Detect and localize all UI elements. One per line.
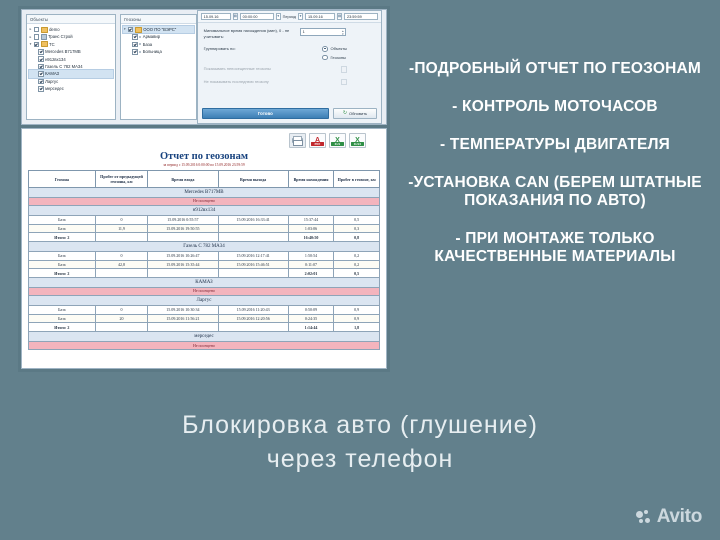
group-name: Ларгус [29,296,380,306]
tree-item[interactable]: Больница [123,48,193,55]
xls-label: XLS [331,142,344,146]
col-enter: Время входа [148,171,218,188]
checkbox[interactable] [38,71,44,77]
cell-enter: 15.09.2016 10:26:47 [148,251,218,260]
table-row: База 0 15.09.2016 10:26:47 15.09.2016 12… [29,251,380,260]
report-subtitle: за период с 15.09.2016 0:00:00 по 15.09.… [28,163,380,167]
cell-mileage-in: 0,9 [334,314,380,323]
tracking-app-window: Объекты ▸ demo ▸ Транс Строй [21,9,387,125]
period-chevron-icon[interactable]: ▾ [298,13,303,19]
group-name: н912вх134 [29,206,380,216]
total-mileage: 0,8 [334,233,380,242]
zone-icon [139,51,141,53]
expander-icon[interactable]: ▸ [29,36,32,39]
objects-panel-header: Объекты [27,15,115,24]
expander-icon[interactable]: ▾ [29,43,32,46]
folder-icon [41,41,48,47]
cell-exit [218,224,288,233]
avito-watermark: Avito [636,506,702,528]
total-duration: 16:40:50 [288,233,334,242]
tree-item-label: Транс Строй [48,33,73,40]
group-by-label: Группировать по: [204,46,300,52]
checkbox[interactable] [38,64,44,70]
hide-last-checkbox [341,79,348,86]
marketing-bullets: -Подробный отчет по геозонам - Контроль … [400,60,710,266]
total-mileage: 1,8 [334,323,380,332]
radio-dot[interactable] [322,55,328,61]
no-visit-text: Не посещено [29,341,380,350]
avito-logo-icon [636,510,653,525]
geozones-panel-header: Геозоны [121,15,195,24]
cell-zone: База [29,215,96,224]
calendar-to-icon[interactable]: ▤ [337,13,342,19]
caption-line-2: через телефон [60,442,660,476]
col-mileage-prev: Пробег от предыдущей геозоны, км [95,171,148,188]
tree-item[interactable]: База [123,41,193,48]
no-visit-text: Не посещено [29,287,380,296]
checkbox[interactable] [132,42,138,48]
report-title: Отчет по геозонам [28,151,380,162]
expander-icon[interactable]: ▸ [29,28,32,31]
tree-item[interactable]: Газель С 782 МА34 [29,63,113,70]
no-visit-row: Не посещено [29,287,380,296]
group-name: мерседес [29,332,380,342]
total-mileage: 0,5 [334,269,380,278]
min-time-value: 1 [303,29,305,34]
tree-item[interactable]: ▸ Транс Строй [29,33,113,40]
parameters-body: Минимальное время нахождения (мин), 0 - … [198,23,381,96]
cell-mileage-prev: 0 [95,215,148,224]
total-label: Итого: 2 [29,233,96,242]
tree-item-label: Mercedes B717MB [45,48,81,55]
zone-icon [139,43,141,45]
pdf-icon[interactable]: A PDF [309,133,326,148]
date-to-input[interactable]: 15.09.16 [305,13,335,20]
cell-mileage-in: 0,5 [334,215,380,224]
tree-item-label: demo [49,26,59,33]
group-name: Mercedes B717MB [29,188,380,198]
tree-item-label: ООО ПО "ВЭРС" [143,26,176,33]
bottom-caption: Блокировка авто (глушение) через телефон [60,408,660,476]
bullet-5: - При монтаже только качественные матери… [400,230,710,266]
checkbox[interactable] [38,86,44,92]
checkbox[interactable] [38,56,44,62]
group-row: н912вх134 [29,206,380,216]
export-toolbar: A PDF X XLS X XLSX [28,133,380,148]
cell-enter: 15.09.2016 19:50:55 [148,224,218,233]
truck-icon [41,34,47,40]
tree-item[interactable]: Ларгус [29,78,113,85]
cell-mileage-prev: 11,9 [95,224,148,233]
tree-item-label: Больница [143,48,162,55]
print-icon[interactable] [289,133,306,148]
cell-exit: 15.09.2016 11:20:43 [218,305,288,314]
show-unvisited-row: Показывать непосещенные геозоны [204,66,375,73]
xlsx-icon[interactable]: X XLSX [349,133,366,148]
objects-panel: Объекты ▸ demo ▸ Транс Строй [26,14,116,120]
cell-exit: 15.09.2016 12:20:56 [218,314,288,323]
cell-mileage-prev: 20 [95,314,148,323]
tree-item-label: База [143,41,152,48]
no-visit-text: Не посещено [29,197,380,206]
calendar-icon[interactable]: ▤ [233,13,238,19]
radio-dot[interactable] [322,46,328,52]
tree-item[interactable]: Mercedes B717MB [29,48,113,55]
report-window: A PDF X XLS X XLSX Отчет по геозонам за … [21,128,387,369]
min-time-label: Минимальное время нахождения (мин), 0 - … [204,28,300,40]
group-row: Mercedes B717MB [29,188,380,198]
checkbox[interactable] [38,49,44,55]
parameters-buttons: Готово ↻ Обновить [202,108,377,119]
checkbox[interactable] [34,34,40,40]
cell-exit: 15.09.2016 16:33:41 [218,215,288,224]
tree-item-label: Ларгус [45,78,58,85]
checkbox[interactable] [128,27,134,33]
group-row: Газель С 782 МА34 [29,242,380,252]
total-label: Итого: 2 [29,269,96,278]
cell-enter: 15.09.2016 0:55:57 [148,215,218,224]
tree-item-label: Армавир [143,33,160,40]
radio-label: Объекты [331,46,348,51]
cell-mileage-prev: 0 [95,305,148,314]
cell-zone: База [29,305,96,314]
group-row: мерседес [29,332,380,342]
software-screenshot: Объекты ▸ demo ▸ Транс Строй [18,6,390,372]
folder-icon [41,27,48,33]
avito-wordmark: Avito [657,506,702,528]
geozones-tree[interactable]: ▾ ООО ПО "ВЭРС" Армавир [121,24,195,56]
cell-enter: 15.09.2016 10:30:34 [148,305,218,314]
cell-duration: 1:50:54 [288,251,334,260]
tree-item-label: мерседес [45,85,64,92]
total-duration: 1:14:44 [288,323,334,332]
cell-mileage-in: 0,2 [334,260,380,269]
total-row: Итого: 2 16:40:50 0,8 [29,233,380,242]
cell-duration: 0:11:07 [288,260,334,269]
total-label: Итого: 2 [29,323,96,332]
bullet-3: - Температуры двигателя [400,136,710,154]
table-row: База 0 15.09.2016 10:30:34 15.09.2016 11… [29,305,380,314]
chevron-down-icon[interactable]: ▾ [276,13,281,19]
no-visit-row: Не посещено [29,341,380,350]
group-name: КАМАЗ [29,278,380,288]
xls-icon[interactable]: X XLS [329,133,346,148]
show-unvisited-label: Показывать непосещенные геозоны [204,66,300,72]
cell-zone: База [29,251,96,260]
period-label: Период [283,15,296,19]
xlsx-label: XLSX [351,142,364,146]
checkbox[interactable] [38,79,44,85]
group-by-radios[interactable]: Объекты Геозоны [322,46,375,60]
cell-zone: База [29,260,96,269]
tree-item[interactable]: ▾ ТС [29,41,113,48]
geozone-report-table: Геозона Пробег от предыдущей геозоны, км… [28,170,380,350]
min-time-input[interactable]: 1 ▴▾ [300,28,346,36]
tree-item[interactable]: ▸ demo [29,26,113,33]
pdf-label: PDF [311,142,324,146]
cell-mileage-in: 0,3 [334,224,380,233]
checkbox[interactable] [34,27,40,33]
promo-image: Объекты ▸ demo ▸ Транс Строй [0,0,720,540]
zone-icon [139,36,141,38]
table-row: База 20 15.09.2016 11:56:21 15.09.2016 1… [29,314,380,323]
cell-exit: 15.09.2016 15:46:51 [218,260,288,269]
tree-item-selected[interactable]: КАМАЗ [29,70,113,77]
show-unvisited-checkbox [341,66,348,73]
checkbox[interactable] [34,42,40,48]
tree-item-selected[interactable]: ▾ ООО ПО "ВЭРС" [123,26,193,33]
cell-duration: 15:37:44 [288,215,334,224]
total-duration: 2:02:01 [288,269,334,278]
cell-enter: 15.09.2016 15:35:44 [148,260,218,269]
report-parameters-panel: 15.09.16 ▤ 00:00:00 ▾ Период ▾ 15.09.16 … [197,10,382,124]
refresh-icon: ↻ [343,111,347,116]
caption-line-1: Блокировка авто (глушение) [60,408,660,442]
bullet-1: -Подробный отчет по геозонам [400,60,710,78]
objects-tree[interactable]: ▸ demo ▸ Транс Строй ▾ [27,24,115,93]
radio-objects[interactable]: Объекты [322,46,347,52]
folder-icon [135,27,142,33]
radio-geozones[interactable]: Геозоны [322,55,347,61]
checkbox[interactable] [132,49,138,55]
tree-item-label: ТС [49,41,55,48]
cell-mileage-prev: 42,8 [95,260,148,269]
time-from-input[interactable]: 00:00:00 [240,13,274,20]
cell-duration: 0:50:09 [288,305,334,314]
table-header-row: Геозона Пробег от предыдущей геозоны, км… [29,171,380,188]
group-row: Ларгус [29,296,380,306]
cell-mileage-prev: 0 [95,251,148,260]
col-zone: Геозона [29,171,96,188]
group-name: Газель С 782 МА34 [29,242,380,252]
tree-item-label: КАМАЗ [45,70,59,77]
bullet-2: - Контроль моточасов [400,98,710,116]
time-to-input[interactable]: 23:59:59 [344,13,378,20]
hide-last-row: Не показывать последнюю геозону [204,79,375,86]
cell-mileage-in: 0,9 [334,305,380,314]
checkbox[interactable] [132,34,138,40]
cell-zone: База [29,224,96,233]
tree-item-label: Газель С 782 МА34 [45,63,82,70]
spinner-arrows-icon[interactable]: ▴▾ [342,30,344,36]
bullet-4: -Установка CAN (берем штатные показания … [400,174,710,210]
radio-label: Геозоны [331,55,346,60]
expander-icon[interactable]: ▾ [123,28,126,31]
table-row: База 0 15.09.2016 0:55:57 15.09.2016 16:… [29,215,380,224]
col-duration: Время нахождения [288,171,334,188]
tree-item-label: н912вх134 [45,56,66,63]
cell-duration: 0:24:35 [288,314,334,323]
col-mileage-in: Пробег в геозоне, км [334,171,380,188]
cell-mileage-in: 0,2 [334,251,380,260]
tree-item[interactable]: Армавир [123,33,193,40]
date-from-input[interactable]: 15.09.16 [201,13,231,20]
tree-item[interactable]: н912вх134 [29,56,113,63]
group-row: КАМАЗ [29,278,380,288]
hide-last-label: Не показывать последнюю геозону [204,79,300,85]
total-row: Итого: 2 1:14:44 1,8 [29,323,380,332]
cell-enter: 15.09.2016 11:56:21 [148,314,218,323]
group-by-row: Группировать по: Объекты Геозоны [204,46,375,60]
cell-duration: 1:03:06 [288,224,334,233]
tree-item[interactable]: мерседес [29,85,113,92]
cell-exit: 15.09.2016 12:17:41 [218,251,288,260]
total-row: Итого: 2 2:02:01 0,5 [29,269,380,278]
col-exit: Время выхода [218,171,288,188]
cell-zone: База [29,314,96,323]
done-button[interactable]: Готово [202,108,329,119]
period-toolbar: 15.09.16 ▤ 00:00:00 ▾ Период ▾ 15.09.16 … [198,11,381,23]
min-time-row: Минимальное время нахождения (мин), 0 - … [204,28,375,40]
refresh-button[interactable]: ↻ Обновить [333,108,377,119]
table-row: База 11,9 15.09.2016 19:50:55 1:03:06 0,… [29,224,380,233]
refresh-label: Обновить [349,111,367,116]
table-row: База 42,8 15.09.2016 15:35:44 15.09.2016… [29,260,380,269]
geozones-panel: Геозоны ▾ ООО ПО "ВЭРС" Армавир [120,14,196,120]
no-visit-row: Не посещено [29,197,380,206]
